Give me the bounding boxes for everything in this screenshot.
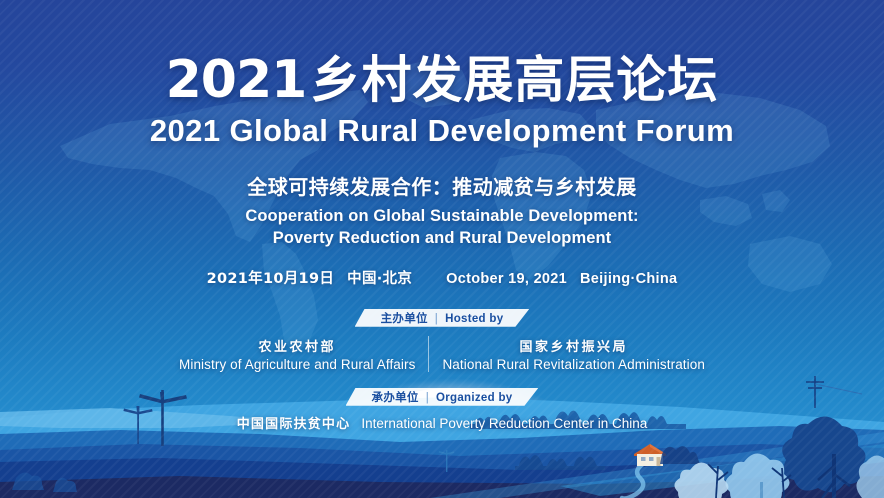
date-chinese: 2021年10月19日 — [207, 271, 335, 287]
location-chinese: 中国·北京 — [347, 271, 412, 287]
organized-by-ribbon: 承办单位|Organized by — [346, 388, 539, 406]
date-english: October 19, 2021 — [446, 271, 567, 287]
hosted-by-section: 主办单位|Hosted by 农业农村部 Ministry of Agricul… — [0, 309, 884, 372]
location-english: Beijing·China — [580, 271, 677, 287]
poster-canvas: 2021乡村发展高层论坛 2021 Global Rural Developme… — [0, 0, 884, 498]
organizing-organization: 中国国际扶贫中心International Poverty Reduction … — [0, 413, 884, 432]
organized-by-label-chinese: 承办单位 — [372, 390, 419, 404]
hosting-organizations: 农业农村部 Ministry of Agriculture and Rural … — [0, 336, 884, 372]
subtitle-english-line-1: Cooperation on Global Sustainable Develo… — [0, 206, 884, 228]
poster-title-chinese: 2021乡村发展高层论坛 — [0, 52, 884, 108]
host-organization: 农业农村部 Ministry of Agriculture and Rural … — [166, 336, 428, 372]
host-organization-english: Ministry of Agriculture and Rural Affair… — [179, 357, 415, 372]
organizer-english: International Poverty Reduction Center i… — [361, 416, 647, 431]
date-location-bar: 2021年10月19日中国·北京October 19, 2021Beijing·… — [0, 267, 884, 288]
organizer-chinese: 中国国际扶贫中心 — [237, 417, 362, 432]
poster-content: 2021乡村发展高层论坛 2021 Global Rural Developme… — [0, 0, 884, 432]
title-year: 2021 — [166, 50, 311, 110]
hosted-by-label-chinese: 主办单位 — [381, 311, 428, 325]
ribbon-separator: | — [428, 310, 445, 328]
organized-by-section: 承办单位|Organized by 中国国际扶贫中心International … — [0, 388, 884, 432]
hosted-by-label-english: Hosted by — [445, 313, 503, 325]
poster-title-english: 2021 Global Rural Development Forum — [0, 113, 884, 149]
host-organization-english: National Rural Revitalization Administra… — [442, 357, 705, 372]
host-organization-chinese: 农业农村部 — [179, 336, 415, 355]
poster-subtitle-english: Cooperation on Global Sustainable Develo… — [0, 206, 884, 250]
ribbon-separator: | — [419, 389, 436, 407]
organized-by-label-english: Organized by — [436, 392, 512, 404]
host-organization: 国家乡村振兴局 National Rural Revitalization Ad… — [428, 336, 718, 372]
poster-subtitle-chinese: 全球可持续发展合作：推动减贫与乡村发展 — [0, 171, 884, 200]
title-chinese-text: 乡村发展高层论坛 — [310, 51, 718, 109]
hosted-by-ribbon: 主办单位|Hosted by — [355, 309, 530, 327]
subtitle-english-line-2: Poverty Reduction and Rural Development — [0, 228, 884, 250]
host-organization-chinese: 国家乡村振兴局 — [442, 336, 705, 355]
